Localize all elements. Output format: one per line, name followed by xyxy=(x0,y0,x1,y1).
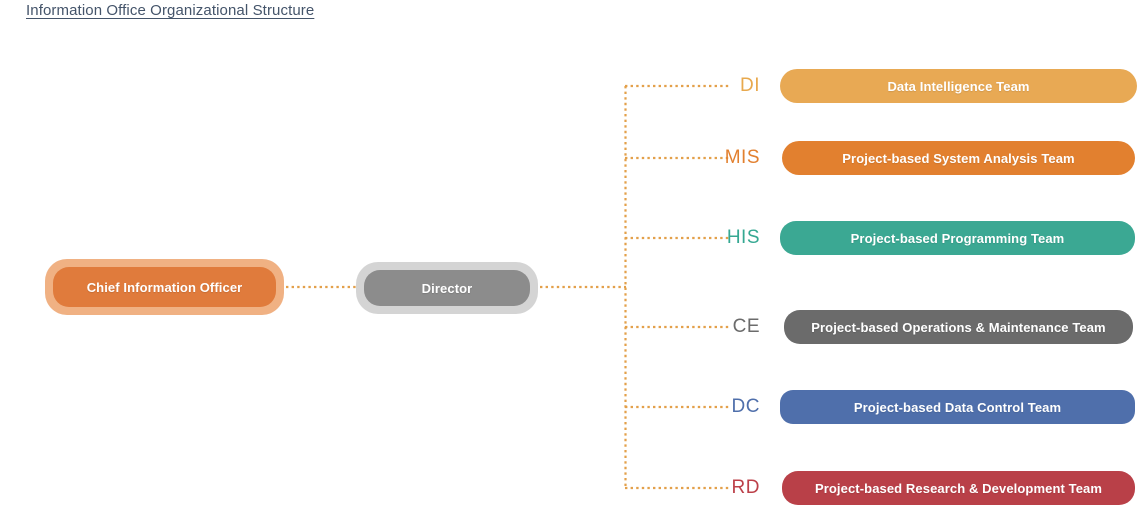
team-pill-dc[interactable]: Project-based Data Control Team xyxy=(780,390,1135,424)
director-label: Director xyxy=(422,281,473,296)
team-label: Project-based Operations & Maintenance T… xyxy=(811,320,1105,335)
team-pill-ce[interactable]: Project-based Operations & Maintenance T… xyxy=(784,310,1133,344)
org-chart-canvas: Information Office Organizational Struct… xyxy=(0,0,1144,526)
team-branch-row: DCProject-based Data Control Team xyxy=(700,390,1135,424)
team-branch-row: CEProject-based Operations & Maintenance… xyxy=(700,310,1133,344)
team-label: Project-based Programming Team xyxy=(851,231,1065,246)
team-pill-di[interactable]: Data Intelligence Team xyxy=(780,69,1137,103)
team-pill-rd[interactable]: Project-based Research & Development Tea… xyxy=(782,471,1135,505)
cio-label: Chief Information Officer xyxy=(87,280,243,295)
team-abbreviation-his: HIS xyxy=(700,227,770,249)
node-chief-information-officer[interactable]: Chief Information Officer xyxy=(45,259,284,315)
team-pill-his[interactable]: Project-based Programming Team xyxy=(780,221,1135,255)
director-inner-pill: Director xyxy=(364,270,530,306)
team-branch-row: MISProject-based System Analysis Team xyxy=(700,141,1135,175)
team-label: Project-based System Analysis Team xyxy=(842,151,1074,166)
team-pill-mis[interactable]: Project-based System Analysis Team xyxy=(782,141,1135,175)
team-branch-row: HISProject-based Programming Team xyxy=(700,221,1135,255)
page-title: Information Office Organizational Struct… xyxy=(26,2,314,19)
team-label: Data Intelligence Team xyxy=(887,79,1029,94)
team-abbreviation-mis: MIS xyxy=(700,147,770,169)
team-abbreviation-di: DI xyxy=(700,75,770,97)
team-abbreviation-rd: RD xyxy=(700,477,770,499)
team-branch-row: DIData Intelligence Team xyxy=(700,69,1137,103)
cio-inner-pill: Chief Information Officer xyxy=(53,267,276,307)
team-branch-row: RDProject-based Research & Development T… xyxy=(700,471,1135,505)
team-label: Project-based Data Control Team xyxy=(854,400,1061,415)
team-abbreviation-dc: DC xyxy=(700,396,770,418)
team-abbreviation-ce: CE xyxy=(700,316,770,338)
team-label: Project-based Research & Development Tea… xyxy=(815,481,1102,496)
node-director[interactable]: Director xyxy=(356,262,538,314)
